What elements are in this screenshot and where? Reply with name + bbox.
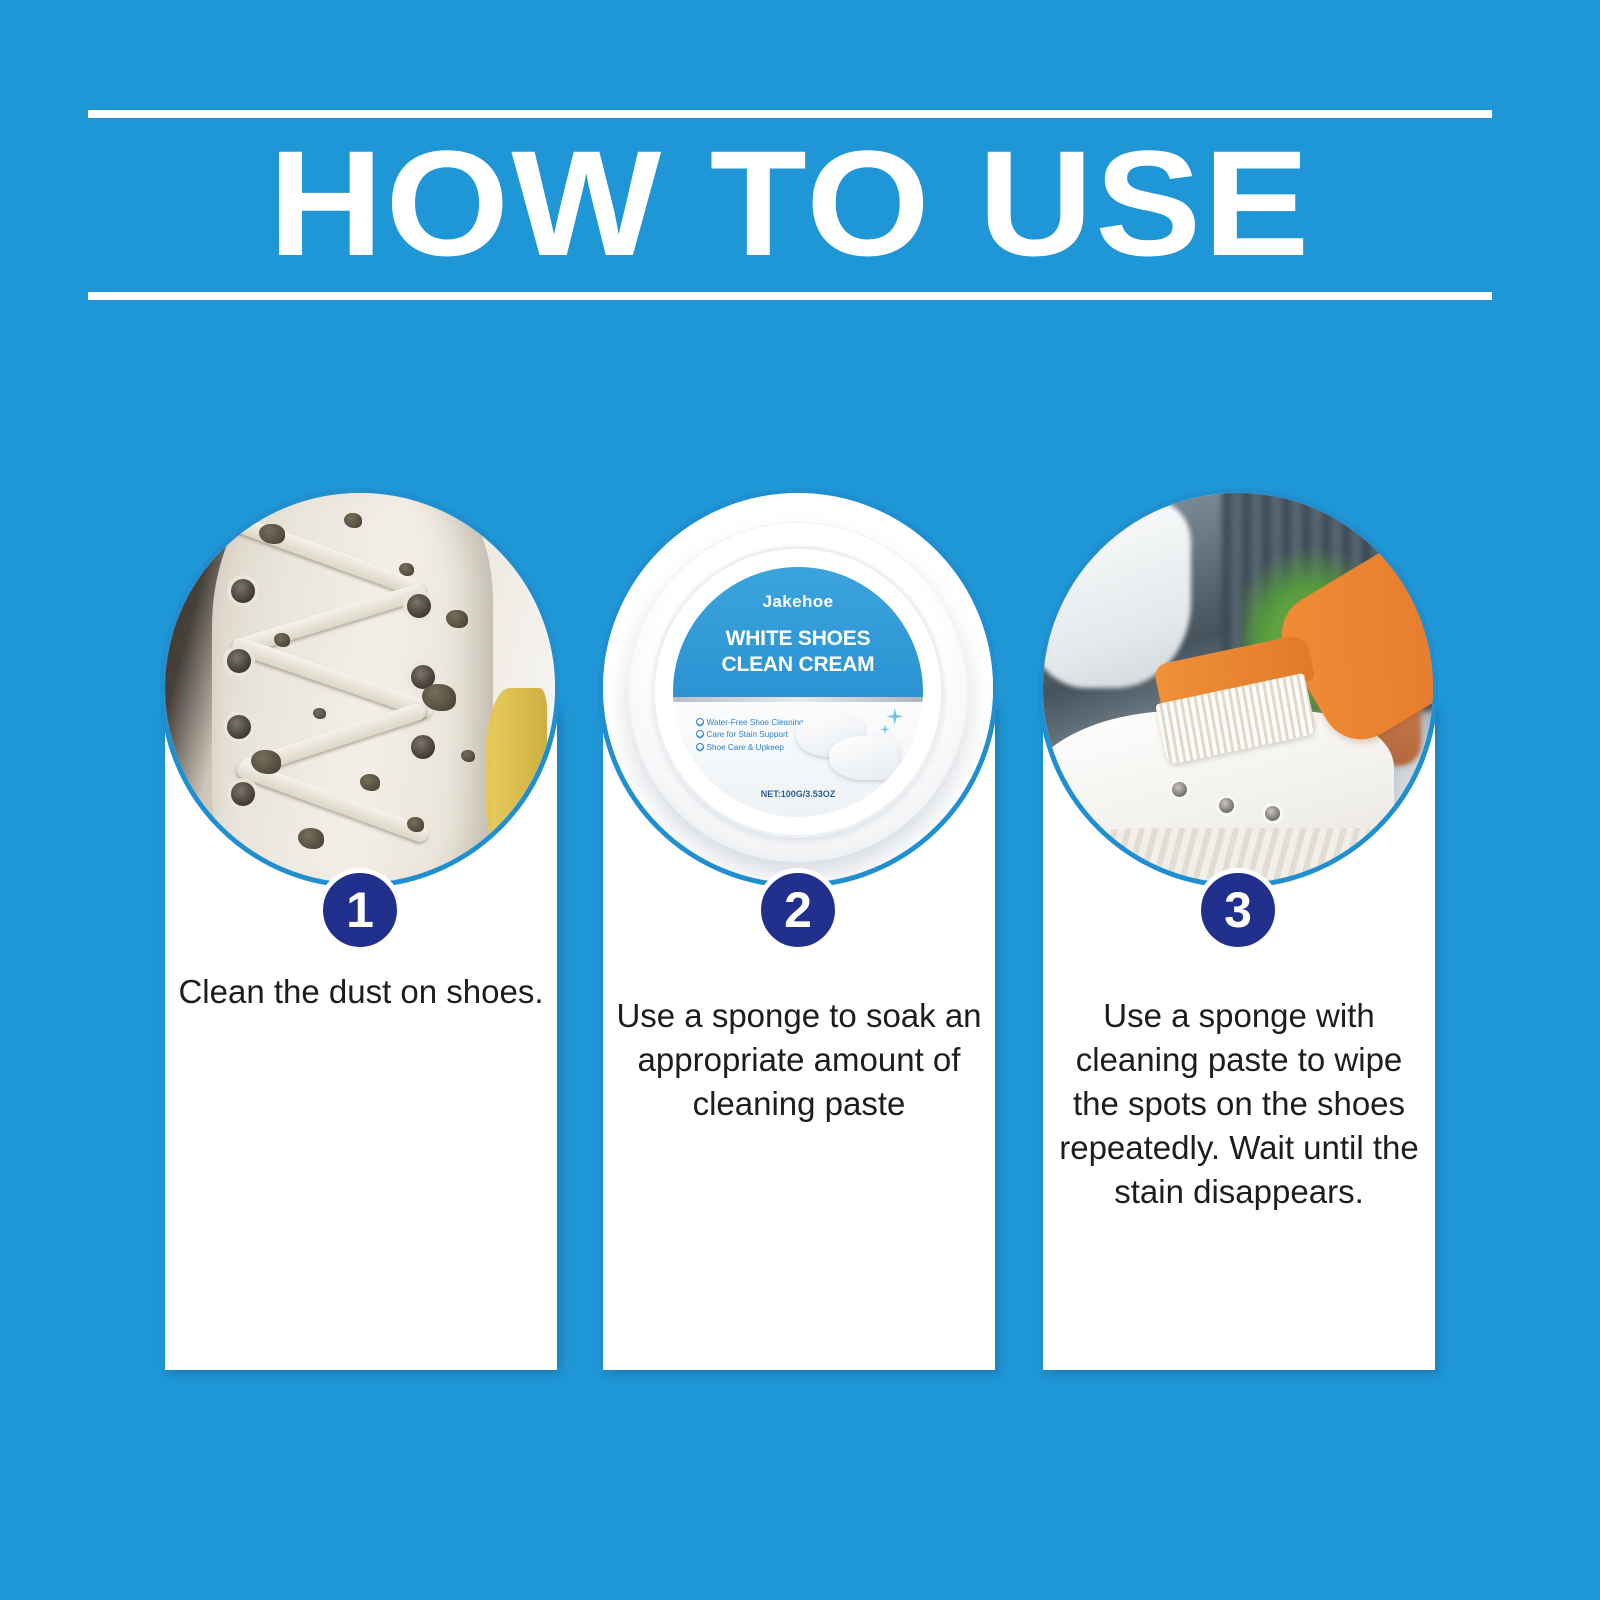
header-rule-bottom — [88, 292, 1492, 300]
jar-product-line-2: CLEAN CREAM — [673, 653, 923, 677]
steps-row: 1 Clean the dust on shoes. Jakehoe WHITE… — [0, 470, 1600, 1400]
product-jar: Jakehoe WHITE SHOES CLEAN CREAM Water-Fr… — [628, 522, 968, 862]
jar-net-weight: NET:100G/3.53OZ — [673, 789, 923, 799]
jar-feature-item: Care for Stain Support — [696, 729, 804, 742]
check-icon — [696, 743, 704, 751]
step-2-caption: Use a sponge to soak an appropriate amou… — [616, 994, 982, 1126]
step-1-number-badge: 1 — [318, 868, 402, 952]
step-2-number-badge: 2 — [756, 868, 840, 952]
step-3-caption: Use a sponge with cleaning paste to wipe… — [1056, 994, 1422, 1214]
jar-shoe-graphic — [796, 709, 906, 784]
step-2-image-circle: Jakehoe WHITE SHOES CLEAN CREAM Water-Fr… — [598, 488, 998, 888]
dirty-white-sneaker-photo — [165, 493, 555, 883]
step-card-2: Jakehoe WHITE SHOES CLEAN CREAM Water-Fr… — [578, 470, 1018, 1400]
header-rule-top — [88, 110, 1492, 118]
jar-product-line-1: WHITE SHOES — [673, 627, 923, 651]
jar-feature-list: Water-Free Shoe Cleaning Care for Stain … — [696, 717, 804, 755]
step-1-image-circle — [160, 488, 560, 888]
step-1-caption: Clean the dust on shoes. — [178, 970, 544, 1014]
page-header: HOW TO USE — [88, 110, 1492, 300]
step-card-3: 3 Use a sponge with cleaning paste to wi… — [1018, 470, 1458, 1400]
cleaning-cream-jar-photo: Jakehoe WHITE SHOES CLEAN CREAM Water-Fr… — [603, 493, 993, 883]
jar-brand: Jakehoe — [673, 592, 923, 612]
step-card-1: 1 Clean the dust on shoes. — [140, 470, 580, 1400]
step-3-image-circle — [1038, 488, 1438, 888]
brushing-white-shoe-photo — [1043, 493, 1433, 883]
jar-feature-item: Shoe Care & Upkeep — [696, 742, 804, 755]
jar-feature-item: Water-Free Shoe Cleaning — [696, 717, 804, 730]
page-title: HOW TO USE — [46, 118, 1534, 292]
check-icon — [696, 718, 704, 726]
step-3-number-badge: 3 — [1196, 868, 1280, 952]
check-icon — [696, 730, 704, 738]
jar-label: Jakehoe WHITE SHOES CLEAN CREAM Water-Fr… — [673, 567, 923, 817]
